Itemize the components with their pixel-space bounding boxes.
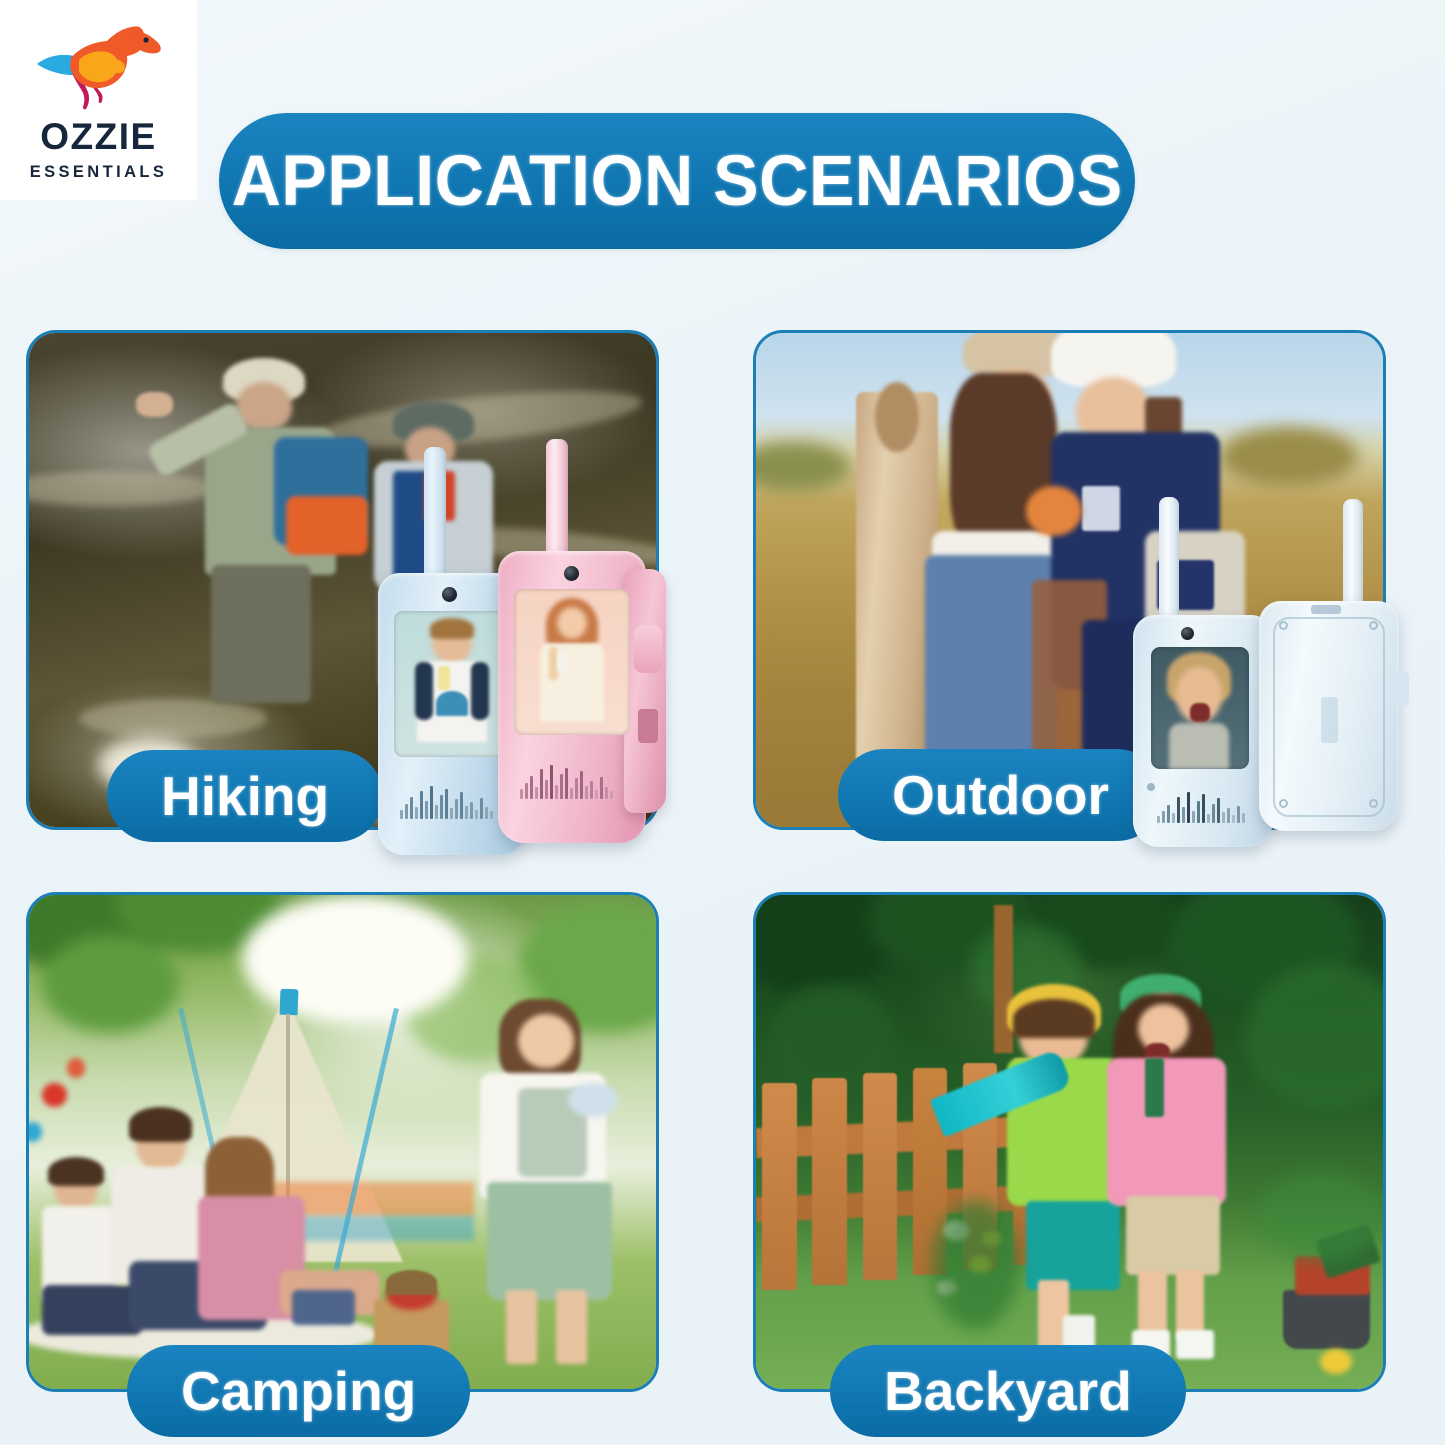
- page-title-banner: APPLICATION SCENARIOS: [219, 113, 1135, 249]
- scenario-label-outdoor[interactable]: Outdoor: [838, 749, 1163, 841]
- scenario-label-hiking[interactable]: Hiking: [107, 750, 383, 842]
- brand-name: OZZIE: [40, 118, 156, 155]
- brand-tagline: ESSENTIALS: [30, 164, 168, 181]
- camping-photo: [29, 895, 656, 1389]
- scenario-label-outdoor-text: Outdoor: [892, 763, 1109, 827]
- camping-scene-family-picnic: [29, 895, 656, 1389]
- kangaroo-icon: [31, 22, 167, 114]
- brand-logo-badge: OZZIE ESSENTIALS: [0, 0, 197, 200]
- scenario-label-camping-text: Camping: [181, 1359, 416, 1423]
- scenario-card-hiking[interactable]: Hiking: [26, 330, 659, 830]
- scenario-label-hiking-text: Hiking: [161, 764, 329, 828]
- scenario-card-camping[interactable]: Camping: [26, 892, 659, 1392]
- scenario-label-backyard-text: Backyard: [884, 1359, 1132, 1423]
- scenario-label-camping[interactable]: Camping: [127, 1345, 470, 1437]
- backyard-photo: [756, 895, 1383, 1389]
- scenario-card-backyard[interactable]: Backyard: [753, 892, 1386, 1392]
- backyard-scene-garden: [756, 895, 1383, 1389]
- scenario-label-backyard[interactable]: Backyard: [830, 1345, 1186, 1437]
- page-title: APPLICATION SCENARIOS: [231, 141, 1122, 222]
- scenario-grid: Hiking: [26, 330, 1419, 1392]
- scenario-card-outdoor[interactable]: Outdoor: [753, 330, 1386, 830]
